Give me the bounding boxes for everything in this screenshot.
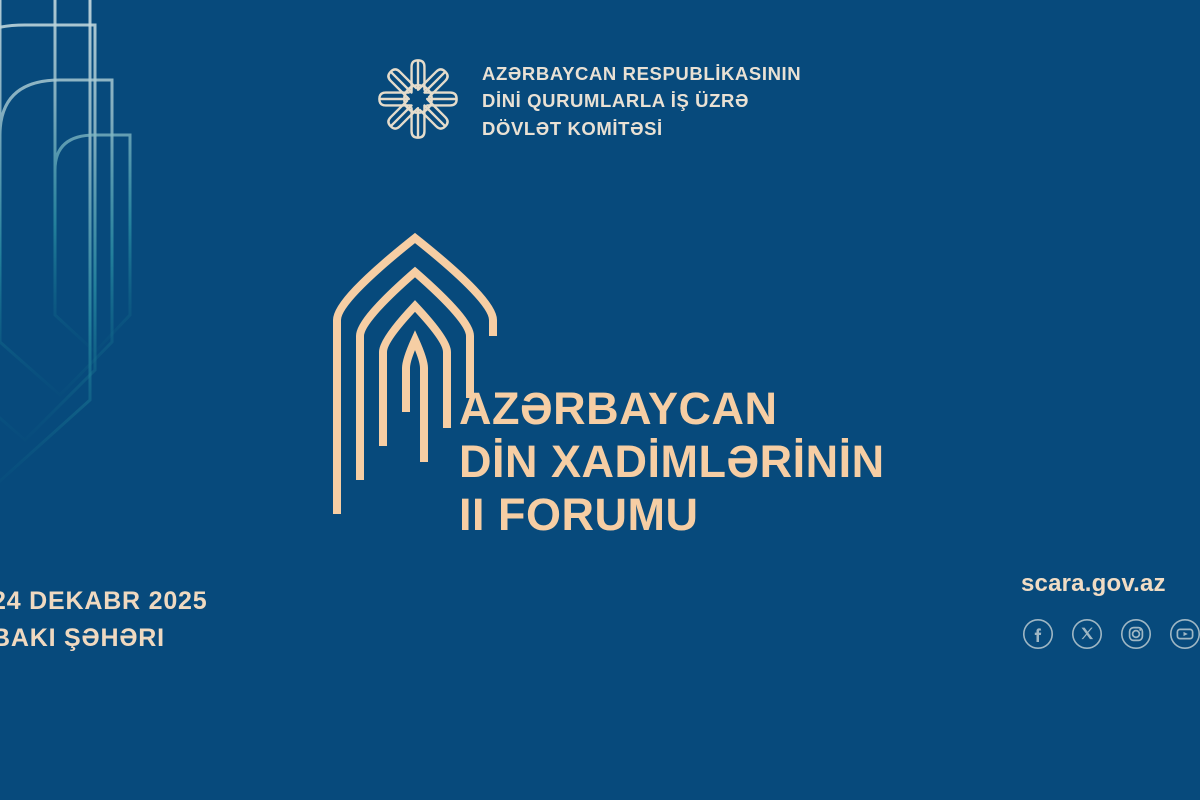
instagram-icon[interactable] bbox=[1120, 618, 1152, 650]
organization-header: AZƏRBAYCAN RESPUBLİKASININ DİNİ QURUMLAR… bbox=[372, 50, 801, 148]
forum-title-line-1: AZƏRBAYCAN bbox=[459, 382, 885, 435]
right-line-pattern-icon bbox=[1000, 262, 1200, 572]
event-city: BAKI ŞƏHƏRI bbox=[0, 620, 207, 657]
social-links bbox=[1022, 618, 1200, 650]
org-line-3: DÖVLƏT KOMİTƏSİ bbox=[482, 115, 801, 142]
facebook-icon[interactable] bbox=[1022, 618, 1054, 650]
youtube-icon[interactable] bbox=[1169, 618, 1200, 650]
forum-title-line-3: II FORUMU bbox=[459, 488, 885, 541]
organization-name: AZƏRBAYCAN RESPUBLİKASININ DİNİ QURUMLAR… bbox=[482, 50, 801, 142]
website-url[interactable]: scara.gov.az bbox=[1021, 570, 1166, 598]
org-line-1: AZƏRBAYCAN RESPUBLİKASININ bbox=[482, 60, 801, 87]
forum-title: AZƏRBAYCAN DİN XADİMLƏRİNİN II FORUMU bbox=[459, 382, 885, 541]
org-line-2: DİNİ QURUMLARLA İŞ ÜZRƏ bbox=[482, 87, 801, 114]
forum-title-line-2: DİN XADİMLƏRİNİN bbox=[459, 435, 885, 488]
event-meta: 24 DEKABR 2025 BAKI ŞƏHƏRI bbox=[0, 583, 207, 657]
event-date: 24 DEKABR 2025 bbox=[0, 583, 207, 620]
x-twitter-icon[interactable] bbox=[1071, 618, 1103, 650]
rosette-emblem-icon bbox=[372, 50, 464, 148]
forum-banner: AZƏRBAYCAN RESPUBLİKASININ DİNİ QURUMLAR… bbox=[0, 0, 1200, 800]
